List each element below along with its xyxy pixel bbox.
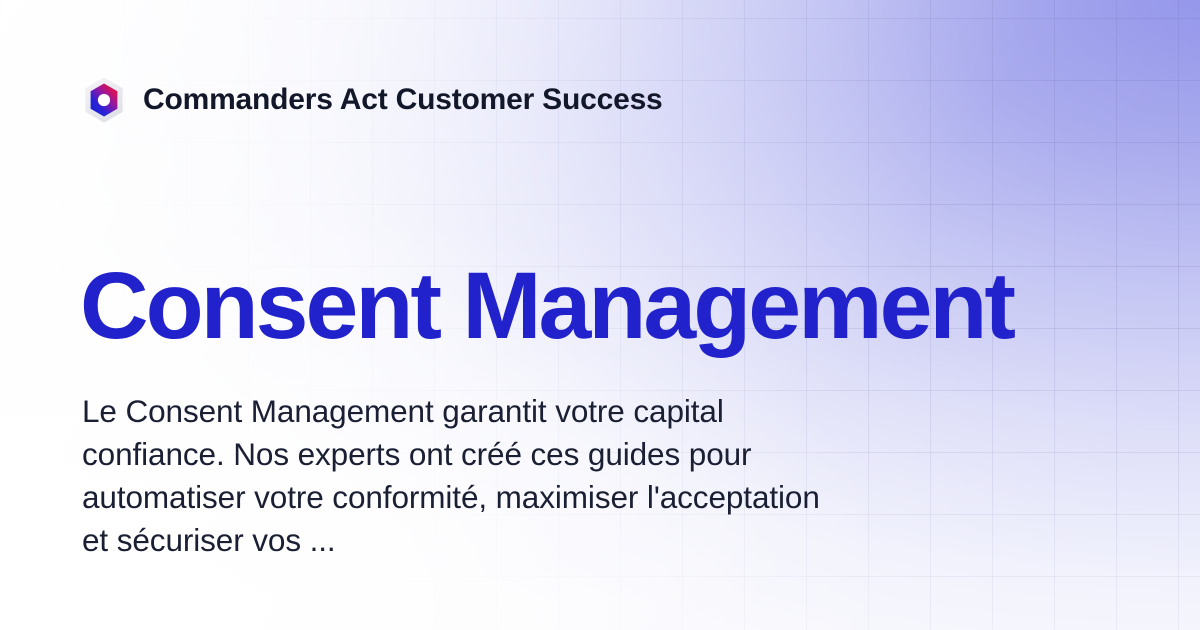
page-title: Consent Management [80, 259, 1013, 354]
commanders-act-hexagon-logo-icon [82, 76, 126, 124]
card-content: Commanders Act Customer Success Consent … [0, 0, 1200, 630]
brand-row: Commanders Act Customer Success [82, 76, 663, 124]
page-description: Le Consent Management garantit votre cap… [82, 390, 842, 562]
og-card: Commanders Act Customer Success Consent … [0, 0, 1200, 630]
brand-name-label: Commanders Act Customer Success [143, 85, 663, 115]
